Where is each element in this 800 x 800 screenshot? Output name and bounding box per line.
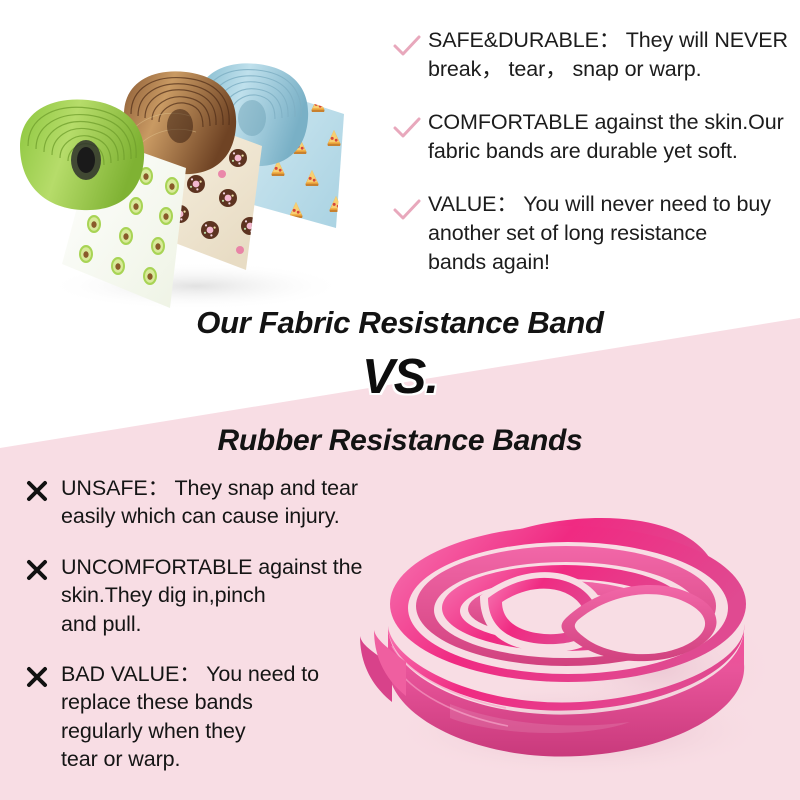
check-icon	[392, 33, 422, 64]
drawback-line: and pull.	[61, 610, 362, 638]
drawback-text: BAD VALUE： You need to replace these ban…	[61, 660, 319, 774]
benefit-line: another set of long resistance	[428, 219, 771, 248]
benefit-line: fabric bands are durable yet soft.	[428, 137, 784, 166]
benefit-text: SAFE&DURABLE： They will NEVER break， tea…	[428, 26, 788, 83]
drawback-text: UNCOMFORTABLE against the skin.They dig …	[61, 553, 362, 638]
versus-label: VS.	[0, 349, 800, 405]
check-icon	[392, 197, 422, 228]
drawback-line: tear or warp.	[61, 745, 319, 773]
benefit-text: VALUE： You will never need to buy anothe…	[428, 190, 771, 276]
comparison-infographic: SAFE&DURABLE： They will NEVER break， tea…	[0, 0, 800, 800]
benefit-item-comfortable: COMFORTABLE against the skin.Our fabric …	[392, 108, 794, 165]
drawback-line: UNCOMFORTABLE against the	[61, 553, 362, 581]
drawback-line: BAD VALUE： You need to	[61, 660, 319, 688]
drawback-item-unsafe: UNSAFE： They snap and tear easily which …	[26, 474, 406, 531]
drawback-line: regularly when they	[61, 717, 319, 745]
heading-fabric-resistance-band: Our Fabric Resistance Band	[0, 305, 800, 341]
heading-rubber-resistance-bands: Rubber Resistance Bands	[0, 424, 800, 458]
drawbacks-list: UNSAFE： They snap and tear easily which …	[26, 474, 406, 795]
drawback-text: UNSAFE： They snap and tear easily which …	[61, 474, 358, 531]
benefits-list: SAFE&DURABLE： They will NEVER break， tea…	[392, 26, 794, 301]
drawback-line: easily which can cause injury.	[61, 502, 358, 530]
drawback-line: skin.They dig in,pinch	[61, 581, 362, 609]
benefit-line: SAFE&DURABLE： They will NEVER	[428, 26, 788, 55]
x-icon	[26, 666, 48, 692]
benefit-line: COMFORTABLE against the skin.Our	[428, 108, 784, 137]
benefit-line: break， tear， snap or warp.	[428, 55, 788, 84]
benefit-line: VALUE： You will never need to buy	[428, 190, 771, 219]
x-icon	[26, 480, 48, 506]
drawback-item-uncomfortable: UNCOMFORTABLE against the skin.They dig …	[26, 553, 406, 638]
check-icon	[392, 115, 422, 146]
benefit-text: COMFORTABLE against the skin.Our fabric …	[428, 108, 784, 165]
drawback-line: UNSAFE： They snap and tear	[61, 474, 358, 502]
benefit-line: bands again!	[428, 248, 771, 277]
benefit-item-safe-durable: SAFE&DURABLE： They will NEVER break， tea…	[392, 26, 794, 83]
fabric-resistance-bands-photo	[0, 18, 380, 310]
drawback-item-bad-value: BAD VALUE： You need to replace these ban…	[26, 660, 406, 774]
x-icon	[26, 559, 48, 585]
benefit-item-value: VALUE： You will never need to buy anothe…	[392, 190, 794, 276]
drawback-line: replace these bands	[61, 688, 319, 716]
